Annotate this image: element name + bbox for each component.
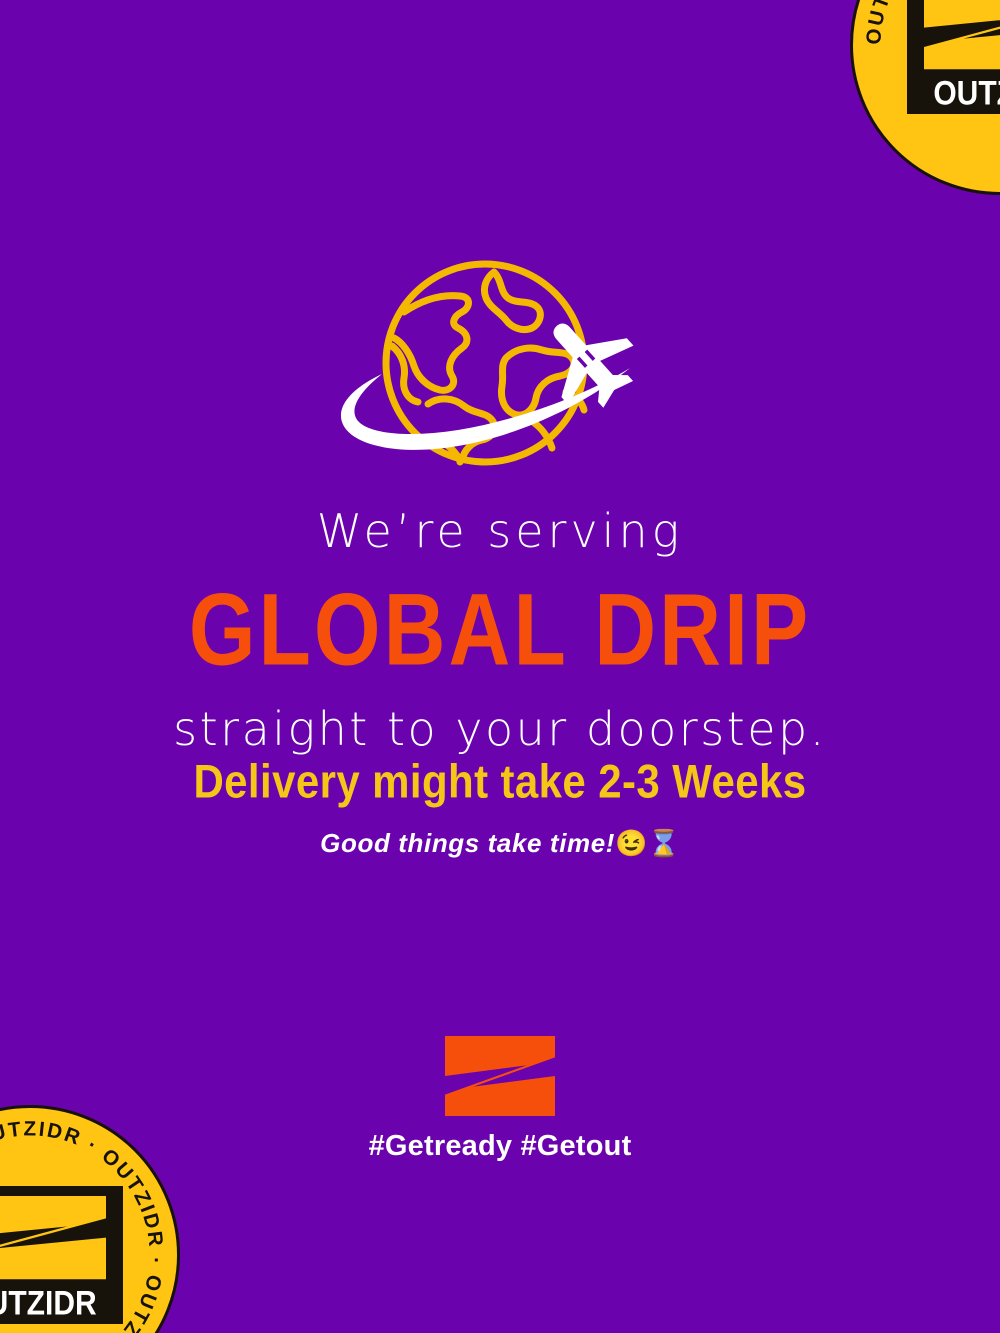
badge-wordmark-box-bl: OUTZIDR xyxy=(0,1284,123,1324)
delivery-notice-block: Delivery might take 2-3 Weeks Good thing… xyxy=(0,758,1000,859)
promo-poster: OUTZIDR · OUTZIDR · OUTZIDR · OUTZIDR · … xyxy=(0,0,1000,1333)
badge-z-mark-box-tr xyxy=(907,0,1000,80)
badge-wordmark-tr: OUTZIDR xyxy=(933,74,1000,113)
globe-airplane-icon xyxy=(330,250,670,480)
hourglass-icon: ⌛ xyxy=(647,828,679,858)
badge-core-tr: OUTZIDR xyxy=(907,0,1000,114)
z-logo-icon xyxy=(924,0,1000,70)
delivery-subtext-row: Good things take time!😉⌛ xyxy=(0,828,1000,859)
badge-z-mark-box-bl xyxy=(0,1186,123,1290)
page-title: GLOBAL DRIP xyxy=(0,568,1000,691)
headline-line-3: straight to your doorstep. xyxy=(0,703,1000,756)
badge-wordmark-box-tr: OUTZIDR xyxy=(907,74,1000,114)
brand-badge-top-right: OUTZIDR · OUTZIDR · OUTZIDR · OUTZIDR · … xyxy=(850,0,1000,195)
badge-wordmark-bl: OUTZIDR xyxy=(0,1284,97,1323)
headline-copy-block: We’re serving GLOBAL DRIP straight to yo… xyxy=(0,505,1000,756)
badge-core-bl: OUTZIDR xyxy=(0,1186,123,1324)
delivery-headline: Delivery might take 2-3 Weeks xyxy=(0,755,1000,809)
z-logo-icon xyxy=(445,1036,555,1116)
delivery-subtext: Good things take time! xyxy=(320,828,615,858)
headline-line-1: We’re serving xyxy=(0,505,1000,558)
z-logo-icon xyxy=(0,1196,106,1279)
wink-face-icon: 😉 xyxy=(615,828,647,858)
brand-badge-bottom-left: OUTZIDR · OUTZIDR · OUTZIDR · OUTZIDR · … xyxy=(0,1105,180,1333)
